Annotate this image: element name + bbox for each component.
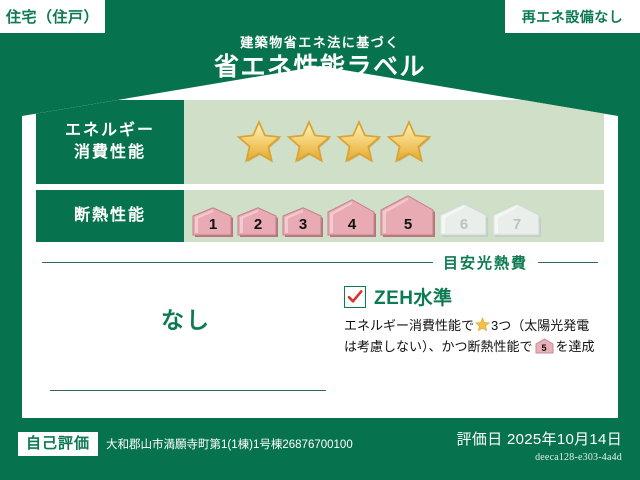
inline-star-icon bbox=[475, 317, 490, 332]
insulation-grade-number: 6 bbox=[439, 217, 489, 232]
energy-performance-label-line1: エネルギー bbox=[65, 120, 155, 142]
zeh-header: ZEH水準 bbox=[344, 283, 604, 310]
footer-left-group: 自己評価 大和郡山市満願寺町第1(1棟)1号棟26876700100 bbox=[18, 432, 353, 456]
star-icon bbox=[386, 119, 432, 165]
insulation-performance-label-text: 断熱性能 bbox=[74, 205, 146, 227]
insulation-grade-scale: 1234567 bbox=[184, 195, 542, 237]
row-insulation-performance: 断熱性能 1234567 bbox=[36, 190, 604, 242]
row-energy-performance: エネルギー 消費性能 bbox=[36, 100, 604, 184]
zeh-description: エネルギー消費性能で 3つ（太陽光発電 は考慮しない）、かつ断熱性能で 5 を達… bbox=[344, 316, 604, 358]
utility-cost-value: なし bbox=[36, 301, 336, 335]
energy-label-sheet: 住宅（住戸） 再エネ設備なし 建築物省エネ法に基づく 省エネ性能ラベル エネルギ… bbox=[0, 0, 640, 480]
divider-left bbox=[42, 262, 433, 263]
badge-renewable-equipment: 再エネ設備なし bbox=[505, 0, 640, 33]
footer-right-group: 評価日 2025年10月14日 deeca128-e303-4a4d bbox=[457, 428, 622, 463]
insulation-grade-number: 5 bbox=[380, 217, 436, 232]
label-lower-section: なし ZEH水準 エネルギー消費性能で bbox=[36, 277, 604, 397]
star-icon bbox=[286, 119, 332, 165]
insulation-grade-2: 2 bbox=[237, 207, 279, 237]
self-evaluation-badge: 自己評価 bbox=[18, 432, 98, 456]
star-icon bbox=[236, 119, 282, 165]
zeh-desc-part1: エネルギー消費性能で bbox=[344, 318, 474, 333]
evaluation-id: deeca128-e303-4a4d bbox=[457, 452, 622, 463]
check-icon bbox=[347, 289, 363, 305]
energy-performance-label: エネルギー 消費性能 bbox=[36, 100, 184, 184]
insulation-grade-3: 3 bbox=[282, 207, 324, 237]
label-card: エネルギー 消費性能 断熱性能 1234567 目安光熱費 bbox=[22, 66, 618, 418]
zeh-title: ZEH水準 bbox=[374, 283, 453, 310]
energy-performance-label-line2: 消費性能 bbox=[74, 142, 146, 164]
energy-performance-value bbox=[184, 100, 604, 184]
badge-housing-label: 住宅（住戸） bbox=[6, 6, 99, 27]
divider-right bbox=[538, 262, 598, 263]
insulation-grade-number: 4 bbox=[327, 217, 377, 232]
insulation-grade-1: 1 bbox=[192, 207, 234, 237]
evaluation-date: 評価日 2025年10月14日 bbox=[457, 428, 622, 449]
badge-housing-type: 住宅（住戸） bbox=[0, 0, 105, 33]
insulation-grade-6: 6 bbox=[439, 203, 489, 237]
star-icon bbox=[336, 119, 382, 165]
utility-cost-heading-text: 目安光熱費 bbox=[433, 252, 538, 273]
title-subtitle: 建築物省エネ法に基づく bbox=[0, 36, 640, 49]
insulation-grade-7: 7 bbox=[492, 203, 542, 237]
zeh-checkbox bbox=[344, 286, 366, 308]
insulation-performance-label: 断熱性能 bbox=[36, 190, 184, 242]
inline-house-grade: 5 bbox=[535, 344, 554, 353]
insulation-grade-number: 3 bbox=[282, 217, 324, 232]
zeh-desc-part2: は考慮しない）、かつ断熱性能で bbox=[344, 339, 533, 354]
utility-cost-heading: 目安光熱費 bbox=[36, 252, 604, 273]
label-card-content: エネルギー 消費性能 断熱性能 1234567 目安光熱費 bbox=[36, 100, 604, 405]
insulation-grade-number: 7 bbox=[492, 217, 542, 232]
insulation-grade-4: 4 bbox=[327, 199, 377, 237]
insulation-grade-number: 1 bbox=[192, 217, 234, 232]
star-rating bbox=[184, 119, 432, 165]
insulation-performance-value: 1234567 bbox=[184, 190, 604, 242]
property-address: 大和郡山市満願寺町第1(1棟)1号棟26876700100 bbox=[106, 436, 353, 452]
zeh-desc-part3: を達成 bbox=[556, 339, 595, 354]
insulation-grade-number: 2 bbox=[237, 217, 279, 232]
utility-cost-column: なし bbox=[36, 277, 336, 397]
utility-cost-underline bbox=[50, 390, 326, 391]
zeh-column: ZEH水準 エネルギー消費性能で 3つ（太陽光発電 は考慮しない）、かつ断熱性能… bbox=[336, 277, 604, 397]
label-footer: 自己評価 大和郡山市満願寺町第1(1棟)1号棟26876700100 評価日 2… bbox=[0, 418, 640, 480]
insulation-grade-5: 5 bbox=[380, 195, 436, 237]
badge-renewable-label: 再エネ設備なし bbox=[522, 7, 624, 27]
zeh-desc-star-count: 3つ（太陽光発電 bbox=[491, 318, 589, 333]
inline-house-icon: 5 bbox=[535, 338, 554, 354]
